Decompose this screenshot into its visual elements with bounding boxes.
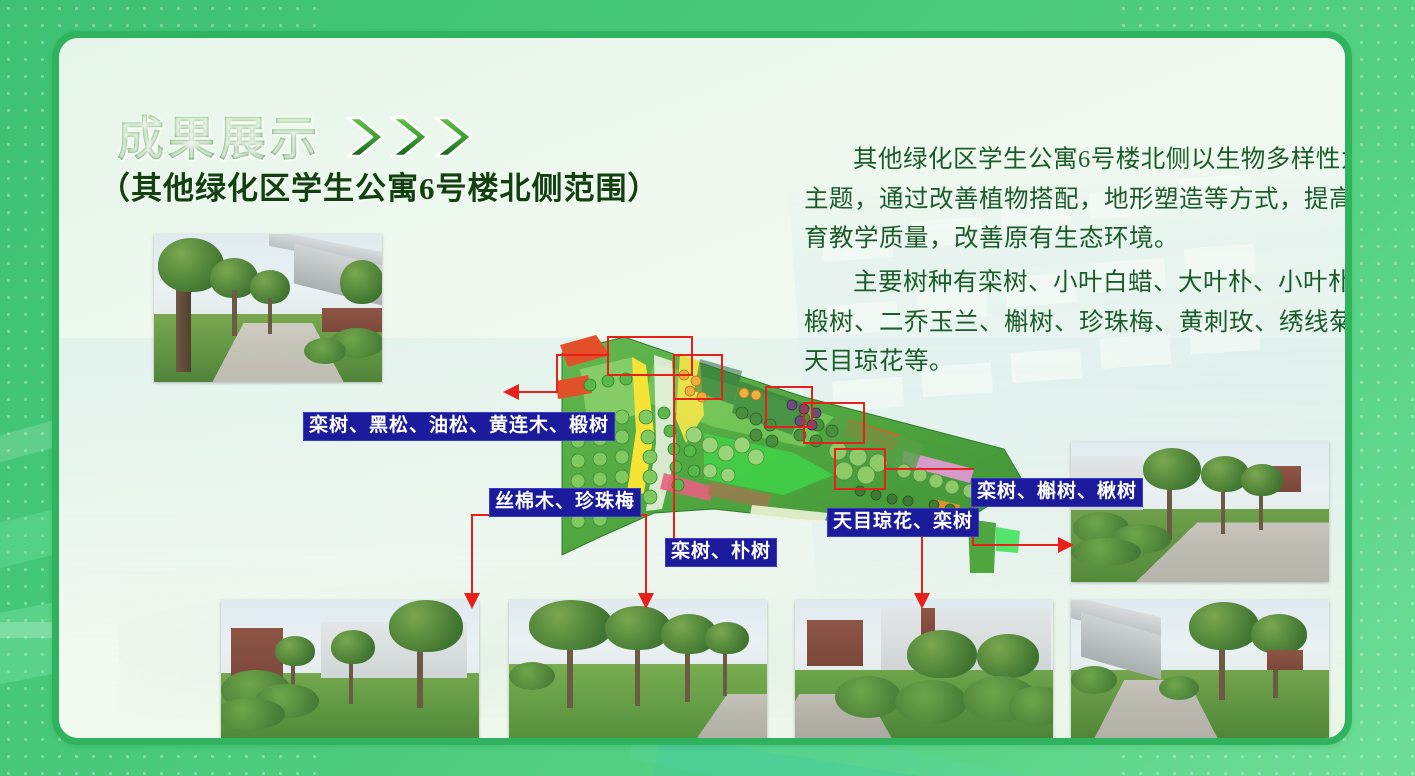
callout-box-5: [834, 448, 886, 490]
callout-label-mid-right: 天目琼花、栾树: [827, 508, 979, 537]
arrow-down-icon: [463, 590, 481, 610]
chevron-right-icon: [343, 114, 385, 160]
callout-box-2: [673, 354, 723, 400]
callout-label-top-left: 栾树、黑松、油松、黄连木、椴树: [303, 412, 615, 441]
connector-line: [556, 354, 609, 356]
photo-bottom-2[interactable]: [509, 600, 767, 740]
slide-canvas: 成果展示 （其他绿化区学生公寓6号楼北侧范围） 其他绿化区学生公寓6号楼北侧: [0, 0, 1415, 776]
connector-line: [972, 544, 1058, 546]
callout-label-bottom-mid: 栾树、朴树: [665, 538, 777, 567]
content-card: 成果展示 （其他绿化区学生公寓6号楼北侧范围） 其他绿化区学生公寓6号楼北侧: [52, 31, 1352, 745]
callout-label-mid-left: 丝棉木、珍珠梅: [489, 488, 641, 517]
connector-line: [556, 354, 558, 392]
arrow-left-icon: [503, 383, 523, 401]
arrow-down-icon: [637, 590, 655, 610]
page-title: 成果展示: [117, 100, 321, 169]
arrow-right-icon: [1054, 536, 1074, 554]
chevron-right-icon: [431, 114, 473, 160]
connector-line: [471, 514, 473, 596]
photo-top-left[interactable]: [154, 234, 382, 382]
connector-line: [645, 514, 647, 596]
photo-bottom-3[interactable]: [795, 600, 1053, 740]
connector-line: [673, 400, 675, 540]
chevron-right-icon: [387, 114, 429, 160]
chevron-group: [343, 114, 473, 160]
description-paragraph-1: 其他绿化区学生公寓6号楼北侧以生物多样性为主题，通过改善植物搭配，地形塑造等方式…: [804, 140, 1352, 259]
page-subtitle: （其他绿化区学生公寓6号楼北侧范围）: [99, 163, 799, 208]
arrow-down-icon: [913, 590, 931, 610]
callout-label-far-right: 栾树、槲树、楸树: [971, 478, 1143, 507]
photo-right-top[interactable]: [1071, 442, 1329, 582]
header: 成果展示: [117, 100, 473, 169]
callout-box-4: [803, 402, 865, 444]
photo-right-bottom[interactable]: [1071, 600, 1329, 740]
photo-bottom-1[interactable]: [221, 600, 479, 740]
connector-line: [607, 356, 609, 359]
connector-line: [519, 391, 558, 393]
connector-line: [921, 534, 923, 596]
connector-line: [886, 468, 974, 470]
